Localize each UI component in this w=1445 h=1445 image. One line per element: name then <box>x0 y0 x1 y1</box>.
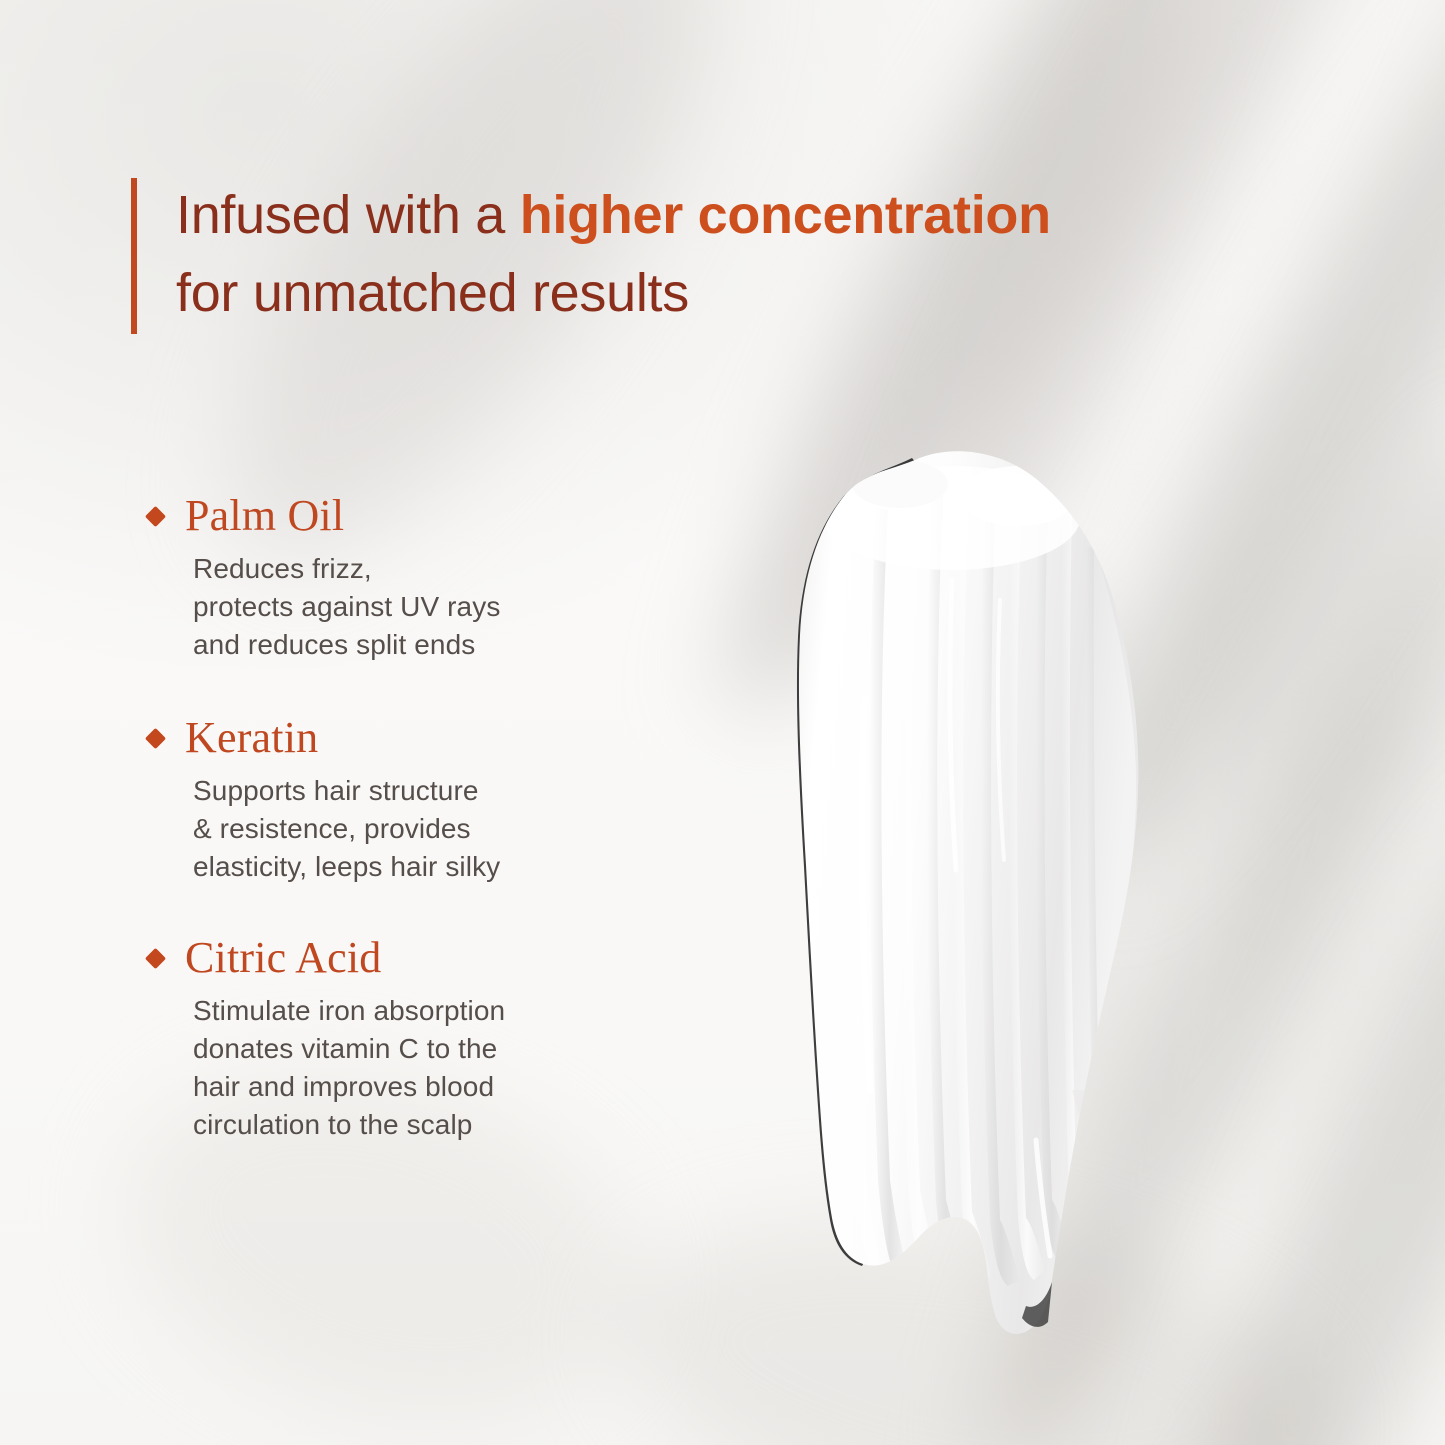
ingredient-list: Palm Oil Reduces frizz, protects against… <box>148 490 618 1144</box>
ingredient-item-citric-acid: Citric Acid Stimulate iron absorption do… <box>148 932 618 1144</box>
accent-rule <box>131 178 137 334</box>
ingredient-heading: Palm Oil <box>148 490 618 542</box>
ingredient-title: Citric Acid <box>185 935 382 981</box>
diamond-bullet-icon <box>145 727 166 748</box>
product-infographic: Infused with a higher concentration for … <box>0 0 1445 1445</box>
page-title: Infused with a higher concentration for … <box>131 176 1331 332</box>
headline-line1-accent: higher concentration <box>520 185 1051 245</box>
ingredient-title: Palm Oil <box>185 493 344 539</box>
ingredient-heading: Keratin <box>148 712 618 764</box>
ingredient-item-palm-oil: Palm Oil Reduces frizz, protects against… <box>148 490 618 664</box>
ingredient-title: Keratin <box>185 715 318 761</box>
ingredient-description: Supports hair structure & resistence, pr… <box>193 772 618 886</box>
ingredient-heading: Citric Acid <box>148 932 618 984</box>
headline-line1-regular: Infused with a <box>176 185 520 245</box>
ingredient-item-keratin: Keratin Supports hair structure & resist… <box>148 712 618 886</box>
ingredient-description: Stimulate iron absorption donates vitami… <box>193 992 618 1144</box>
ingredient-description: Reduces frizz, protects against UV rays … <box>193 550 618 664</box>
diamond-bullet-icon <box>145 947 166 968</box>
headline-block: Infused with a higher concentration for … <box>131 176 1331 332</box>
headline-line2: for unmatched results <box>176 263 689 323</box>
diamond-bullet-icon <box>145 505 166 526</box>
